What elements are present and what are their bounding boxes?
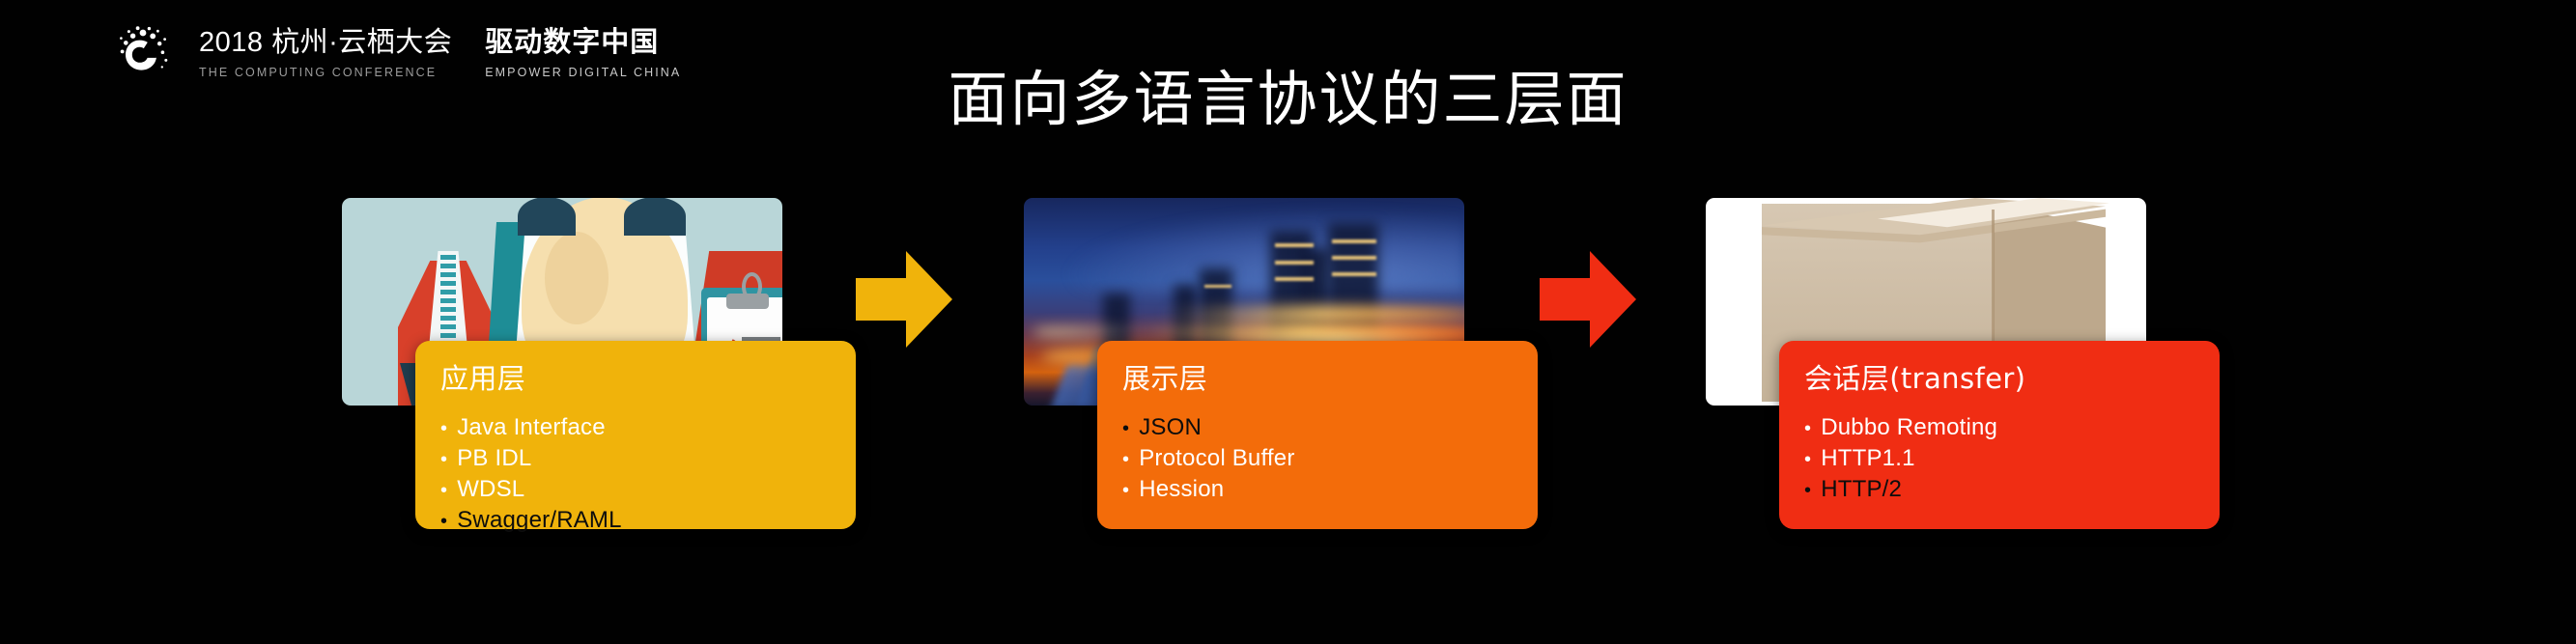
bullet-list: • Dubbo Remoting • HTTP1.1 • HTTP/2 bbox=[1804, 412, 2194, 505]
list-item: • Java Interface bbox=[440, 412, 831, 443]
list-item: • Protocol Buffer bbox=[1122, 443, 1513, 474]
card-title: 展示层 bbox=[1122, 364, 1513, 395]
stage-application-layer: 应用层 • Java Interface • PB IDL • WDSL bbox=[342, 198, 782, 406]
list-item: • Dubbo Remoting bbox=[1804, 412, 2194, 443]
bullet-glyph-icon: • bbox=[1804, 450, 1811, 469]
list-item-label: Swagger/RAML bbox=[457, 505, 621, 536]
list-item: • JSON bbox=[1122, 412, 1513, 443]
card-presentation-layer[interactable]: 展示层 • JSON • Protocol Buffer • Hession bbox=[1097, 341, 1538, 529]
slide-canvas: 2018 杭州·云栖大会 THE COMPUTING CONFERENCE 驱动… bbox=[0, 0, 2576, 644]
stage-flow: 应用层 • Java Interface • PB IDL • WDSL bbox=[0, 0, 2576, 644]
list-item-label: HTTP1.1 bbox=[1821, 443, 1914, 474]
list-item: • Swagger/RAML bbox=[440, 505, 831, 536]
bullet-glyph-icon: • bbox=[1804, 481, 1811, 500]
list-item-label: Hession bbox=[1139, 474, 1224, 505]
list-item-label: PB IDL bbox=[457, 443, 531, 474]
list-item-label: WDSL bbox=[457, 474, 524, 505]
card-title: 应用层 bbox=[440, 364, 831, 395]
card-application-layer[interactable]: 应用层 • Java Interface • PB IDL • WDSL bbox=[415, 341, 856, 529]
list-item: • HTTP/2 bbox=[1804, 474, 2194, 505]
bullet-list: • JSON • Protocol Buffer • Hession bbox=[1122, 412, 1513, 505]
list-item: • Hession bbox=[1122, 474, 1513, 505]
card-session-layer[interactable]: 会话层(transfer) • Dubbo Remoting • HTTP1.1… bbox=[1779, 341, 2220, 529]
list-item: • WDSL bbox=[440, 474, 831, 505]
bullet-glyph-icon: • bbox=[1122, 481, 1129, 500]
bullet-glyph-icon: • bbox=[1804, 419, 1811, 438]
list-item-label: Dubbo Remoting bbox=[1821, 412, 1997, 443]
list-item: • PB IDL bbox=[440, 443, 831, 474]
list-item-label: Protocol Buffer bbox=[1139, 443, 1294, 474]
bullet-glyph-icon: • bbox=[440, 450, 447, 469]
list-item-label: JSON bbox=[1139, 412, 1202, 443]
arrow-right-stage1-to-stage2-icon bbox=[856, 249, 952, 350]
arrow-right-stage2-to-stage3-icon bbox=[1540, 249, 1636, 350]
bullet-glyph-icon: • bbox=[440, 481, 447, 500]
bullet-glyph-icon: • bbox=[440, 419, 447, 438]
list-item: • HTTP1.1 bbox=[1804, 443, 2194, 474]
list-item-label: HTTP/2 bbox=[1821, 474, 1902, 505]
bullet-glyph-icon: • bbox=[1122, 419, 1129, 438]
bullet-glyph-icon: • bbox=[440, 512, 447, 531]
stage-presentation-layer: 展示层 • JSON • Protocol Buffer • Hession bbox=[1024, 198, 1464, 406]
bullet-list: • Java Interface • PB IDL • WDSL • Swagg… bbox=[440, 412, 831, 536]
card-title: 会话层(transfer) bbox=[1804, 364, 2194, 395]
stage-session-layer: 会话层(transfer) • Dubbo Remoting • HTTP1.1… bbox=[1706, 198, 2146, 406]
list-item-label: Java Interface bbox=[457, 412, 606, 443]
bullet-glyph-icon: • bbox=[1122, 450, 1129, 469]
